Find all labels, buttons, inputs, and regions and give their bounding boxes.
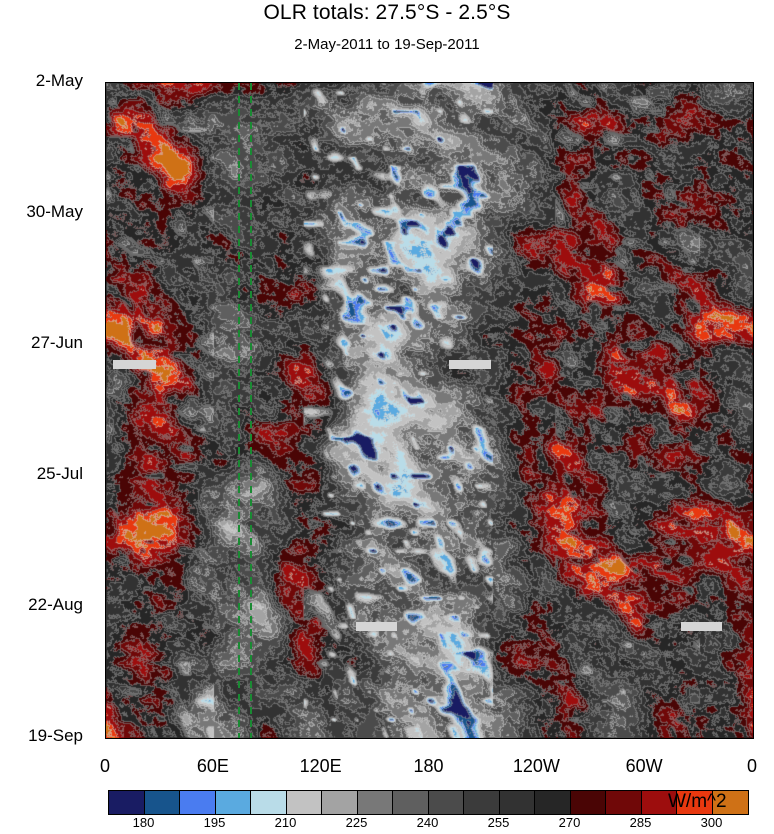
colorbar-swatch: [500, 791, 536, 814]
y-tick-minor-right: [753, 640, 754, 641]
y-tick-minor: [105, 280, 106, 281]
y-tick-minor-right: [753, 149, 754, 150]
colorbar-units-label: W/m^2: [668, 791, 727, 813]
y-tick-minor-right: [753, 673, 754, 674]
y-tick-major: [105, 344, 106, 346]
y-axis-label: 2-May: [0, 71, 83, 91]
olr-field-canvas: [106, 83, 753, 738]
horizontal-period-marker: [449, 360, 490, 369]
green-dashed-longitude-line: [250, 83, 252, 738]
x-axis-label: 120W: [496, 756, 576, 777]
y-tick-major: [105, 606, 106, 608]
colorbar-tick-label: 195: [185, 815, 245, 830]
chart-title: OLR totals: 27.5°S - 2.5°S: [0, 1, 774, 25]
horizontal-period-marker: [681, 622, 722, 631]
chart-subtitle: 2-May-2011 to 19-Sep-2011: [0, 36, 774, 53]
y-tick-minor-right: [753, 312, 754, 313]
colorbar-tick-label: 285: [611, 815, 671, 830]
y-tick-major-right: [753, 82, 754, 84]
y-tick-minor: [105, 542, 106, 543]
y-tick-major: [105, 737, 106, 739]
colorbar-tick-label: 255: [469, 815, 529, 830]
x-axis-label: 0: [65, 756, 145, 777]
y-tick-minor: [105, 247, 106, 248]
y-tick-minor: [105, 411, 106, 412]
y-tick-minor: [105, 378, 106, 379]
y-tick-minor-right: [753, 509, 754, 510]
y-tick-minor: [105, 181, 106, 182]
y-tick-major-right: [753, 737, 754, 739]
y-tick-minor-right: [753, 378, 754, 379]
colorbar-swatch: [251, 791, 287, 814]
y-tick-minor: [105, 640, 106, 641]
y-tick-minor-right: [753, 247, 754, 248]
colorbar-swatch: [571, 791, 607, 814]
y-tick-minor: [105, 149, 106, 150]
colorbar-swatch: [216, 791, 252, 814]
y-tick-minor-right: [753, 181, 754, 182]
olr-hovmoller-chart: OLR totals: 27.5°S - 2.5°S 2-May-2011 to…: [0, 0, 774, 834]
x-axis-label: 180: [389, 756, 469, 777]
y-tick-minor: [105, 509, 106, 510]
colorbar: [108, 790, 749, 815]
y-axis-label: 27-Jun: [0, 333, 83, 353]
colorbar-swatch: [429, 791, 465, 814]
green-dashed-longitude-line: [238, 83, 240, 738]
y-tick-minor: [105, 312, 106, 313]
colorbar-swatch: [393, 791, 429, 814]
colorbar-swatch: [535, 791, 571, 814]
y-tick-minor: [105, 673, 106, 674]
colorbar-tick-label: 210: [256, 815, 316, 830]
y-tick-minor-right: [753, 443, 754, 444]
y-axis-label: 30-May: [0, 202, 83, 222]
y-tick-major-right: [753, 475, 754, 477]
y-tick-major-right: [753, 344, 754, 346]
y-tick-minor-right: [753, 411, 754, 412]
colorbar-tick-label: 240: [398, 815, 458, 830]
y-tick-major: [105, 213, 106, 215]
colorbar-swatch: [464, 791, 500, 814]
colorbar-tick-label: 180: [114, 815, 174, 830]
y-axis-label: 22-Aug: [0, 595, 83, 615]
x-axis-label: 120E: [281, 756, 361, 777]
y-tick-minor-right: [753, 574, 754, 575]
y-tick-major-right: [753, 606, 754, 608]
colorbar-swatch: [358, 791, 394, 814]
colorbar-swatch: [322, 791, 358, 814]
y-tick-minor: [105, 705, 106, 706]
y-tick-major: [105, 475, 106, 477]
x-axis-label: 0: [712, 756, 774, 777]
colorbar-swatch: [145, 791, 181, 814]
y-tick-minor-right: [753, 116, 754, 117]
y-tick-minor-right: [753, 542, 754, 543]
colorbar-swatch: [109, 791, 145, 814]
horizontal-period-marker: [356, 622, 397, 631]
y-tick-minor-right: [753, 705, 754, 706]
y-tick-major-right: [753, 213, 754, 215]
colorbar-swatch: [606, 791, 642, 814]
y-axis-label: 19-Sep: [0, 726, 83, 746]
y-tick-minor: [105, 574, 106, 575]
y-tick-minor: [105, 116, 106, 117]
x-axis-label: 60W: [604, 756, 684, 777]
y-tick-minor-right: [753, 280, 754, 281]
y-tick-major: [105, 82, 106, 84]
colorbar-tick-label: 225: [327, 815, 387, 830]
colorbar-swatch: [287, 791, 323, 814]
x-axis-label: 60E: [173, 756, 253, 777]
horizontal-period-marker: [113, 360, 156, 369]
plot-area: [105, 82, 754, 739]
colorbar-tick-label: 270: [540, 815, 600, 830]
colorbar-swatch: [180, 791, 216, 814]
colorbar-tick-label: 300: [682, 815, 742, 830]
y-axis-label: 25-Jul: [0, 464, 83, 484]
y-tick-minor: [105, 443, 106, 444]
